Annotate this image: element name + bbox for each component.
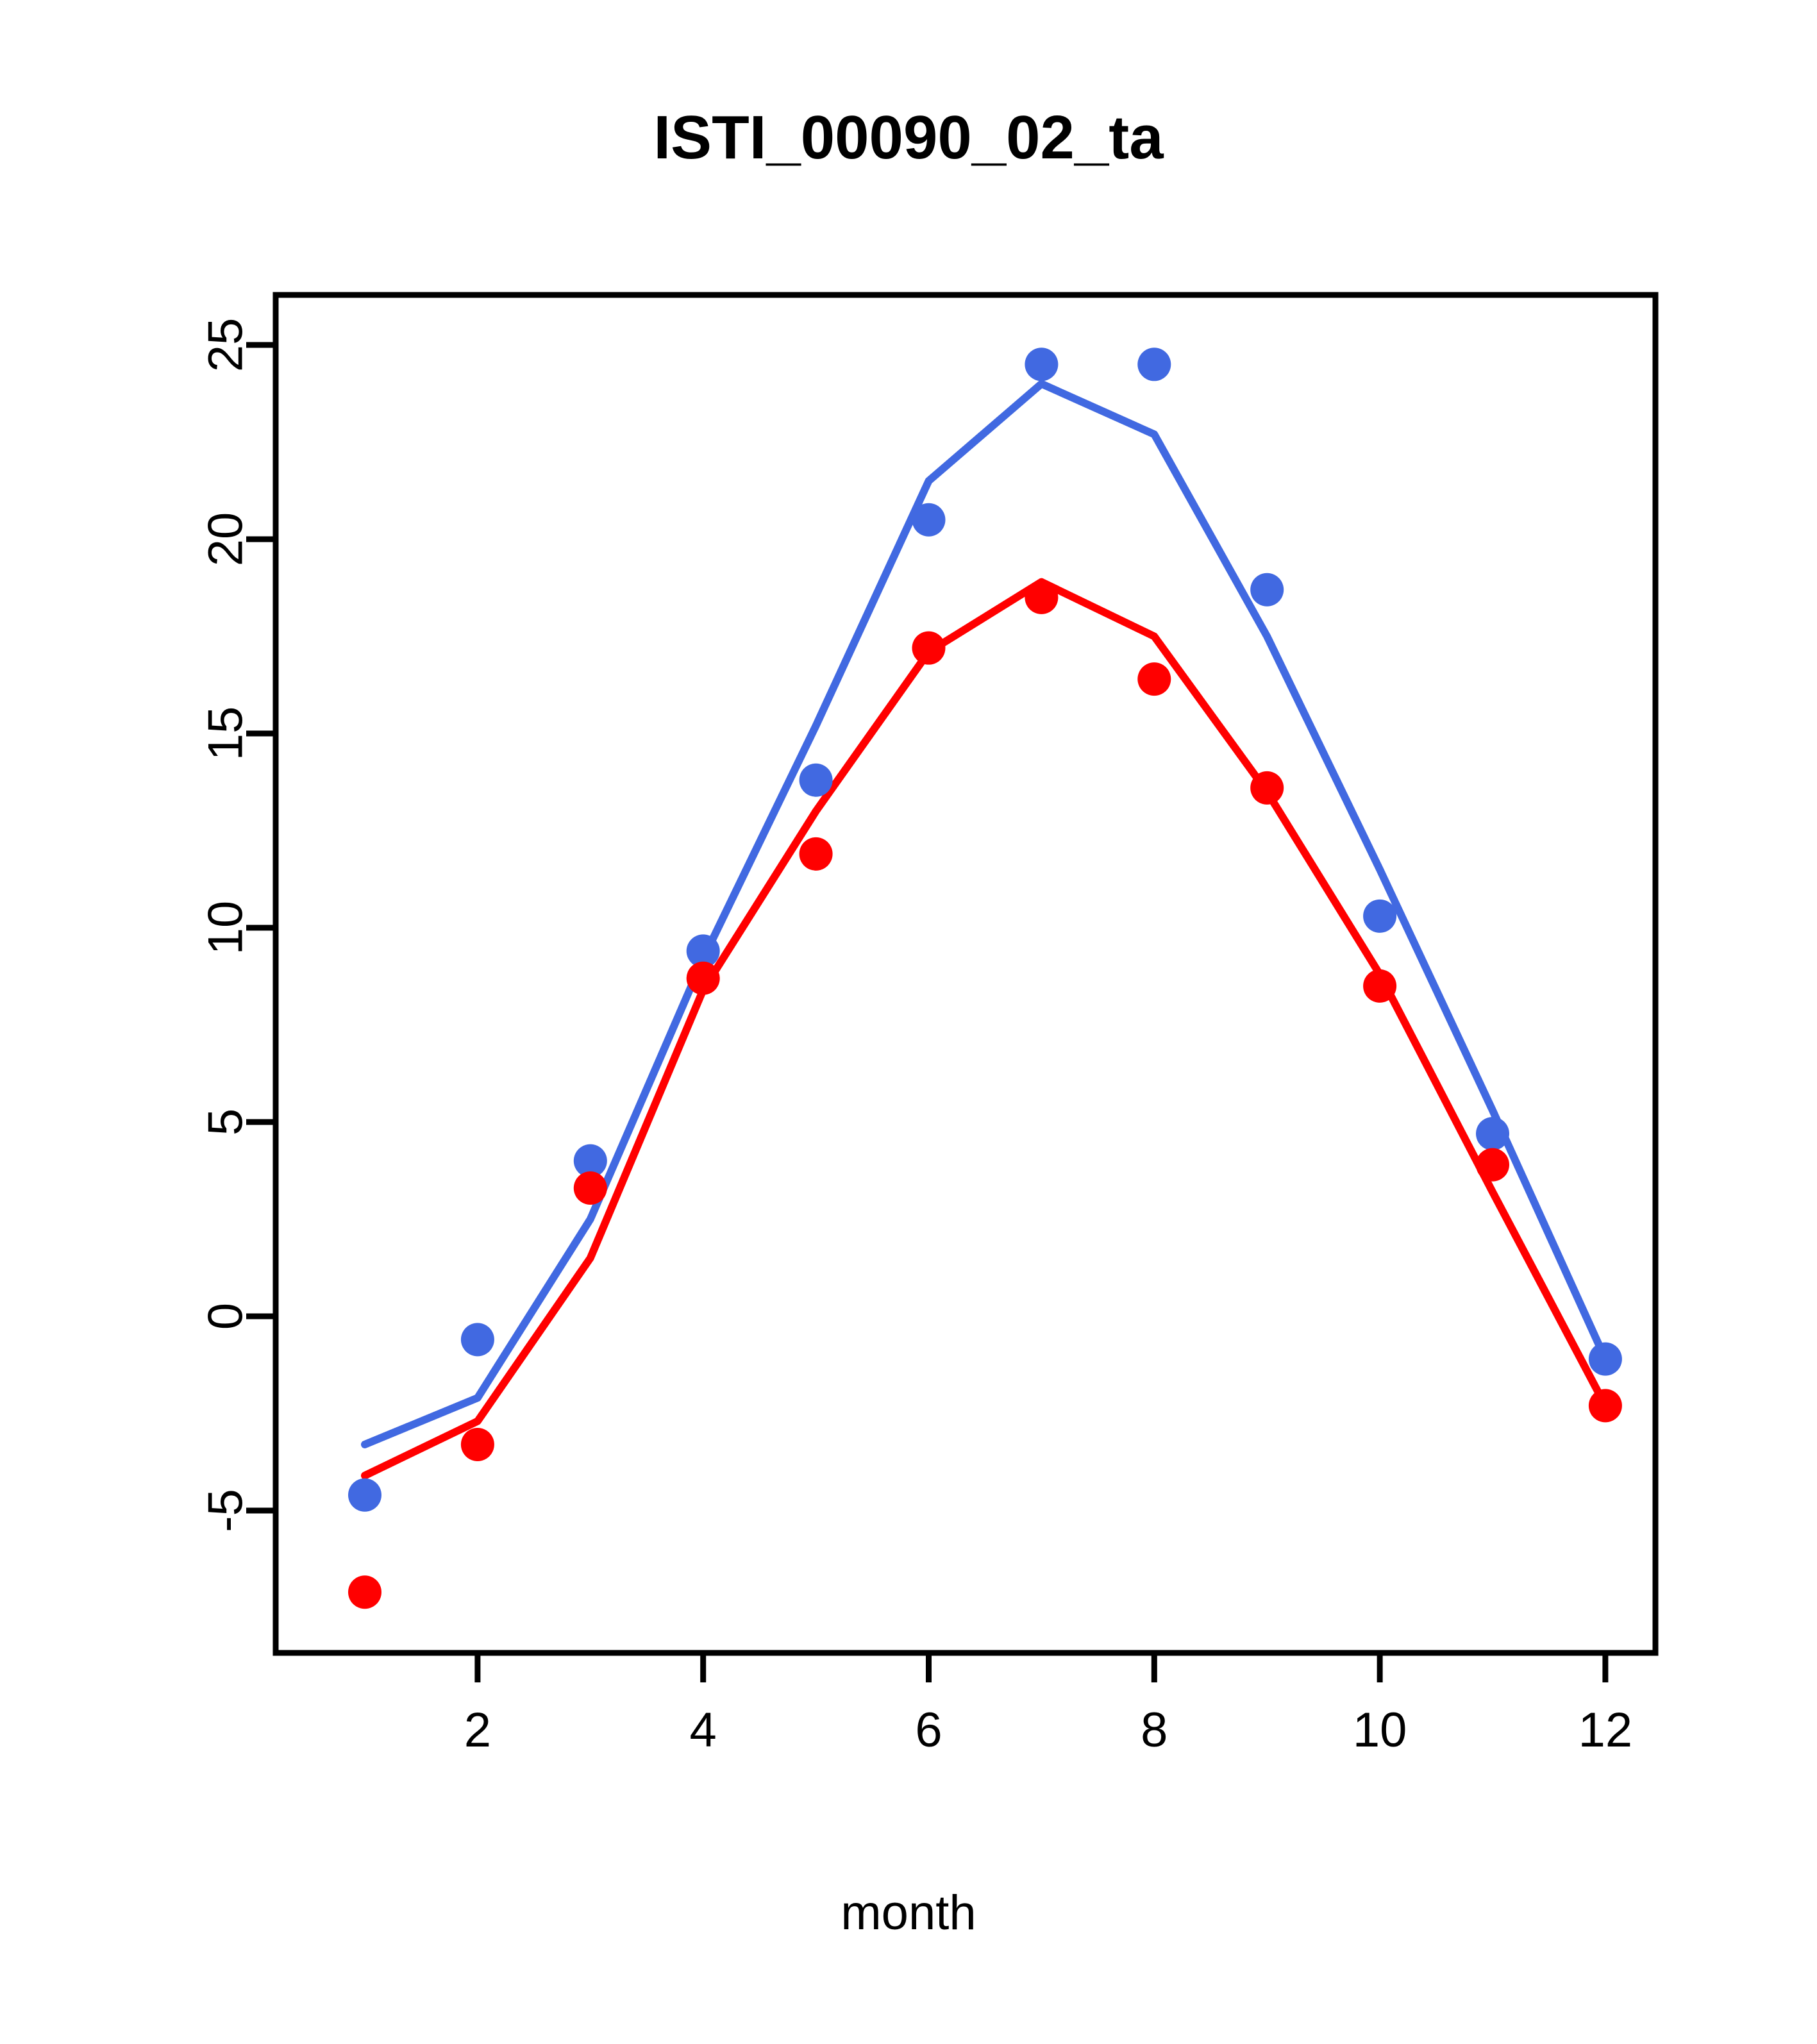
y-tick-label: 5	[199, 1109, 253, 1135]
data-point-red-points	[1476, 1148, 1509, 1182]
data-point-blue-points	[912, 503, 946, 537]
x-tick-label: 6	[915, 1703, 942, 1757]
data-point-red-points	[1137, 662, 1171, 696]
x-axis-label: month	[0, 1885, 1817, 1941]
data-point-red-points	[1250, 771, 1284, 805]
series-line-blue-line	[365, 384, 1605, 1445]
series-line-red-line	[365, 582, 1605, 1476]
data-point-red-points	[461, 1428, 494, 1461]
tick-labels: -5051015202524681012	[199, 318, 1633, 1757]
x-tick-label: 8	[1141, 1703, 1168, 1757]
axes	[246, 295, 1655, 1682]
data-point-blue-points	[1589, 1343, 1622, 1376]
data-point-blue-points	[461, 1323, 494, 1356]
data-point-red-points	[800, 837, 833, 871]
data-point-red-points	[687, 962, 720, 995]
y-tick-label: 10	[199, 901, 253, 955]
y-tick-label: 15	[199, 707, 253, 761]
data-point-red-points	[348, 1575, 381, 1609]
data-point-red-points	[1025, 581, 1058, 614]
data-point-red-points	[912, 632, 946, 665]
data-point-blue-points	[348, 1479, 381, 1512]
data-point-red-points	[574, 1171, 607, 1205]
data-point-red-points	[1589, 1389, 1622, 1422]
data-point-blue-points	[1250, 573, 1284, 607]
x-tick-label: 4	[690, 1703, 717, 1757]
x-tick-label: 10	[1353, 1703, 1407, 1757]
data-point-red-points	[1363, 969, 1396, 1003]
data-point-blue-points	[1137, 348, 1171, 381]
y-tick-label: 20	[199, 512, 253, 567]
plot-canvas: ISTI_00090_02_ta -5051015202524681012 mo…	[0, 0, 1817, 2044]
data-point-blue-points	[1363, 900, 1396, 933]
data-series	[348, 348, 1622, 1609]
y-tick-label: 25	[199, 318, 253, 373]
data-point-blue-points	[1025, 348, 1058, 381]
x-tick-label: 12	[1578, 1703, 1633, 1757]
data-point-blue-points	[1476, 1117, 1509, 1150]
x-tick-label: 2	[464, 1703, 491, 1757]
data-point-blue-points	[800, 764, 833, 797]
y-tick-label: -5	[199, 1489, 253, 1532]
chart-svg: -5051015202524681012	[0, 0, 1817, 2044]
y-tick-label: 0	[199, 1303, 253, 1330]
